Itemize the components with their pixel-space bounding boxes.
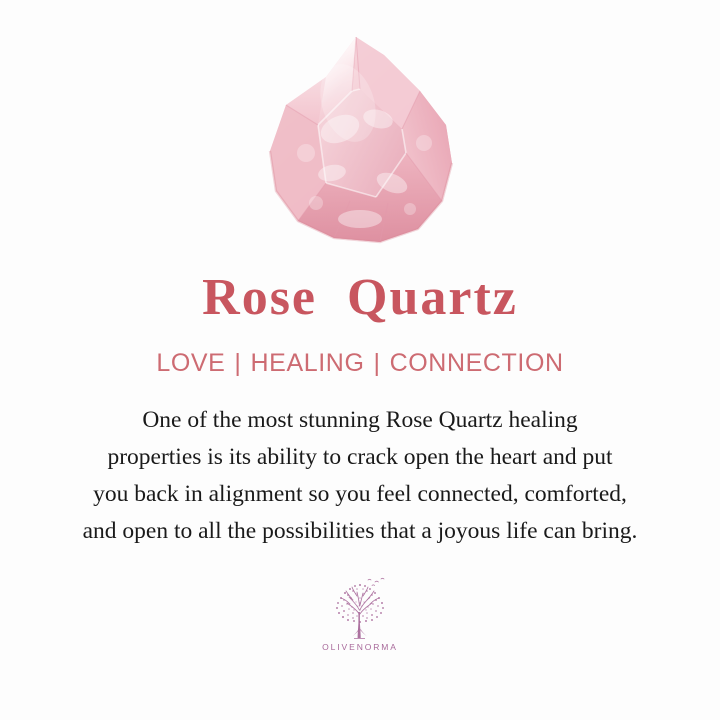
keyword-love: LOVE	[156, 351, 225, 376]
page-title: Rose Quartz	[202, 272, 518, 324]
keyword-connection: CONNECTION	[390, 351, 564, 376]
rose-quartz-crystal-icon	[260, 33, 460, 248]
hero-image-area	[0, 0, 720, 272]
keyword-healing: HEALING	[251, 351, 365, 376]
brand-wordmark: OLIVENORMA	[322, 643, 398, 652]
description-paragraph: One of the most stunning Rose Quartz hea…	[30, 402, 690, 550]
description-line: you back in alignment so you feel connec…	[30, 476, 690, 513]
tree-of-life-icon	[323, 576, 397, 640]
brand-logo: OLIVENORMA	[322, 576, 398, 652]
keyword-separator: |	[234, 351, 241, 376]
rose-quartz-crystal-image	[260, 33, 460, 248]
description-line: and open to all the possibilities that a…	[30, 513, 690, 550]
rose-quartz-info-card: Rose Quartz LOVE | HEALING | CONNECTION …	[0, 0, 720, 720]
keyword-separator: |	[374, 351, 381, 376]
description-line: One of the most stunning Rose Quartz hea…	[30, 402, 690, 439]
description-line: properties is its ability to crack open …	[30, 439, 690, 476]
keyword-list: LOVE | HEALING | CONNECTION	[156, 351, 563, 376]
